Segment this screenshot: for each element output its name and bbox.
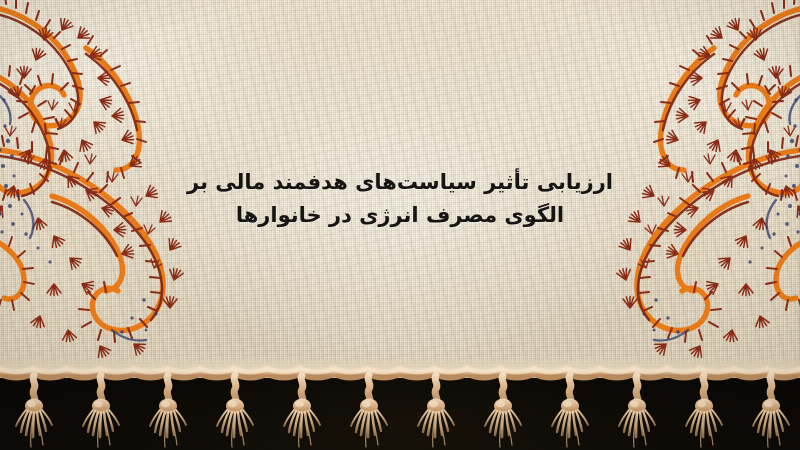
tassel-fringe <box>0 362 800 450</box>
title-line-2: الگوی مصرف انرژی در خانوارها <box>236 201 564 230</box>
title-card: ارزیابی تأثیر سیاست‌های هدفمند مالی بر ا… <box>0 0 800 450</box>
title-line-1: ارزیابی تأثیر سیاست‌های هدفمند مالی بر <box>187 168 613 197</box>
slide-title: ارزیابی تأثیر سیاست‌های هدفمند مالی بر ا… <box>0 168 800 230</box>
